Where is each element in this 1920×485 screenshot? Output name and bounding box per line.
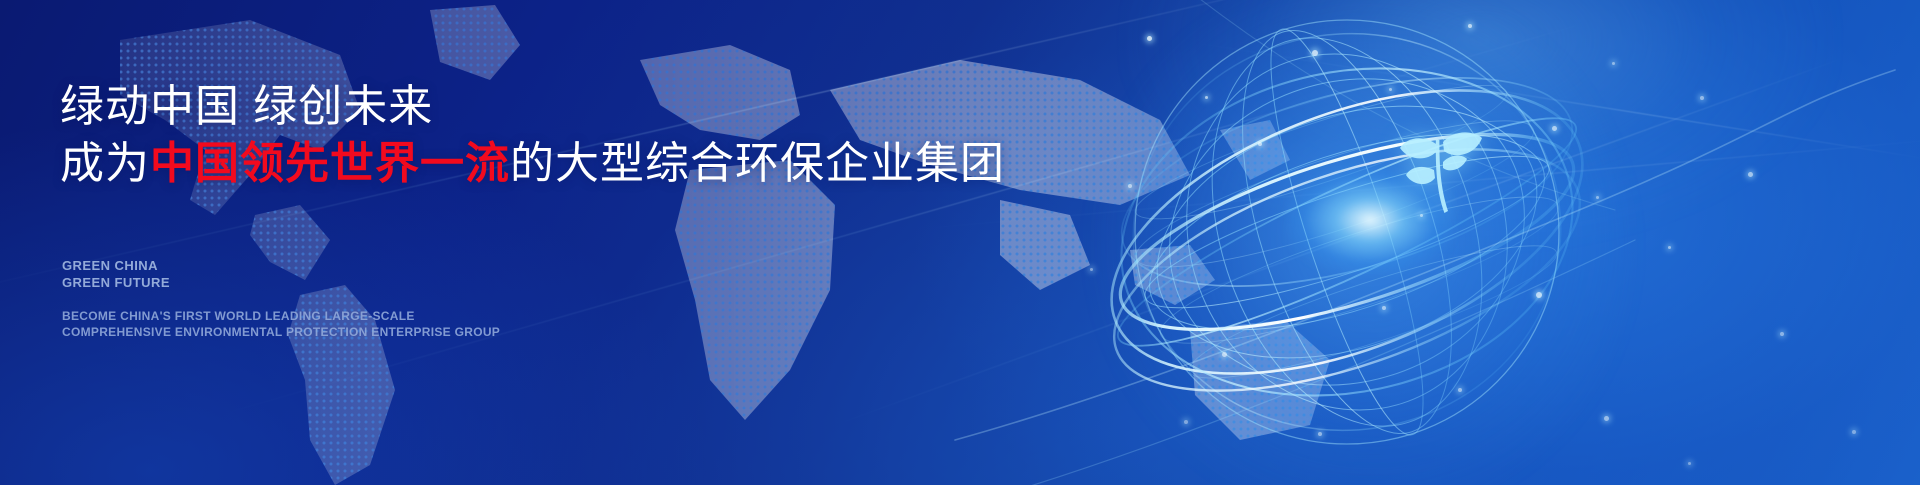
headline-line-1: 绿动中国 绿创未来 [60, 82, 433, 131]
tagline-line-2: GREEN FUTURE [62, 275, 170, 292]
subtitle-line-2: COMPREHENSIVE ENVIRONMENTAL PROTECTION E… [62, 325, 500, 341]
page-title: 绿动中国 绿创未来 成为中国领先世界一流的大型综合环保企业集团 [60, 78, 1005, 192]
headline-highlight: 中国领先世界一流 [150, 139, 510, 188]
sprout-leaf-icon [1396, 118, 1488, 223]
headline-line-2-suffix: 的大型综合环保企业集团 [510, 139, 1005, 188]
subtitle-line-1: BECOME CHINA'S FIRST WORLD LEADING LARGE… [62, 309, 500, 325]
hero-banner: 绿动中国 绿创未来 成为中国领先世界一流的大型综合环保企业集团 GREEN CH… [0, 0, 1920, 485]
banner-content: 绿动中国 绿创未来 成为中国领先世界一流的大型综合环保企业集团 GREEN CH… [60, 0, 1060, 485]
tagline-line-1: GREEN CHINA [62, 258, 170, 275]
headline-line-2-prefix: 成为 [60, 139, 150, 188]
tagline: GREEN CHINA GREEN FUTURE [62, 258, 170, 292]
subtitle: BECOME CHINA'S FIRST WORLD LEADING LARGE… [62, 309, 500, 341]
headline-line-2: 成为中国领先世界一流的大型综合环保企业集团 [60, 135, 1005, 192]
